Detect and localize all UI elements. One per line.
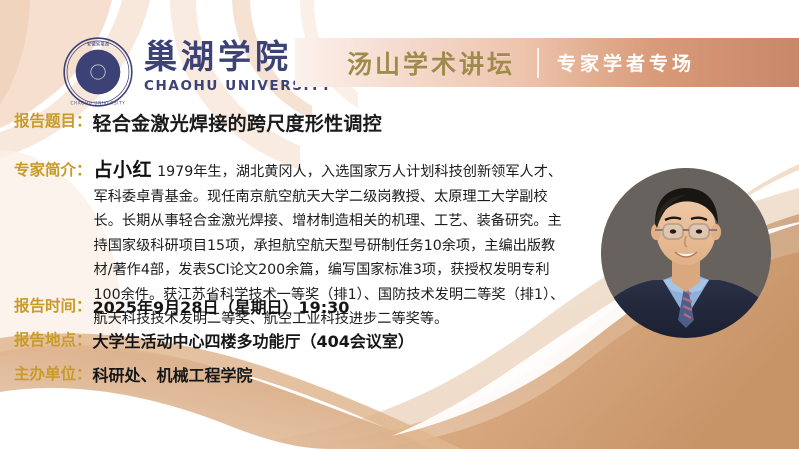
organizer-label: 主办单位： — [14, 362, 92, 384]
report-time-row: 报告时间： 2025年9月28日（星期日）19:30 — [14, 294, 349, 318]
expert-name: 占小红 — [94, 159, 153, 181]
report-title-label: 报告题目： — [14, 109, 92, 131]
university-logo: 1977 安徽省巢湖 CHAOHU UNIVERSITY 巢湖学院 CHAOHU… — [62, 36, 332, 108]
forum-banner: 汤山学术讲坛 专家学者专场 — [295, 38, 799, 87]
banner-subtitle: 专家学者专场 — [557, 49, 695, 76]
report-title-row: 报告题目： 轻合金激光焊接的跨尺度形性调控 — [14, 109, 382, 136]
lecture-poster: 1977 安徽省巢湖 CHAOHU UNIVERSITY 巢湖学院 CHAOHU… — [0, 0, 799, 449]
expert-portrait — [601, 168, 771, 338]
expert-bio-label: 专家简介： — [14, 155, 92, 180]
report-time-label: 报告时间： — [14, 294, 92, 316]
svg-text:1977: 1977 — [93, 75, 104, 80]
report-place-row: 报告地点： 大学生活动中心四楼多功能厅（404会议室） — [14, 328, 414, 352]
chaohu-university-seal-icon: 1977 安徽省巢湖 CHAOHU UNIVERSITY — [62, 36, 134, 108]
organizer-value: 科研处、机械工程学院 — [93, 362, 253, 386]
report-place-value: 大学生活动中心四楼多功能厅（404会议室） — [93, 328, 414, 352]
report-time-value: 2025年9月28日（星期日）19:30 — [93, 294, 350, 318]
organizer-row: 主办单位： 科研处、机械工程学院 — [14, 362, 253, 386]
banner-divider — [537, 48, 539, 78]
report-place-label: 报告地点： — [14, 328, 92, 350]
banner-title: 汤山学术讲坛 — [347, 45, 515, 81]
svg-text:CHAOHU UNIVERSITY: CHAOHU UNIVERSITY — [71, 100, 126, 105]
report-title-value: 轻合金激光焊接的跨尺度形性调控 — [93, 109, 383, 136]
svg-text:安徽省巢湖: 安徽省巢湖 — [87, 40, 110, 47]
